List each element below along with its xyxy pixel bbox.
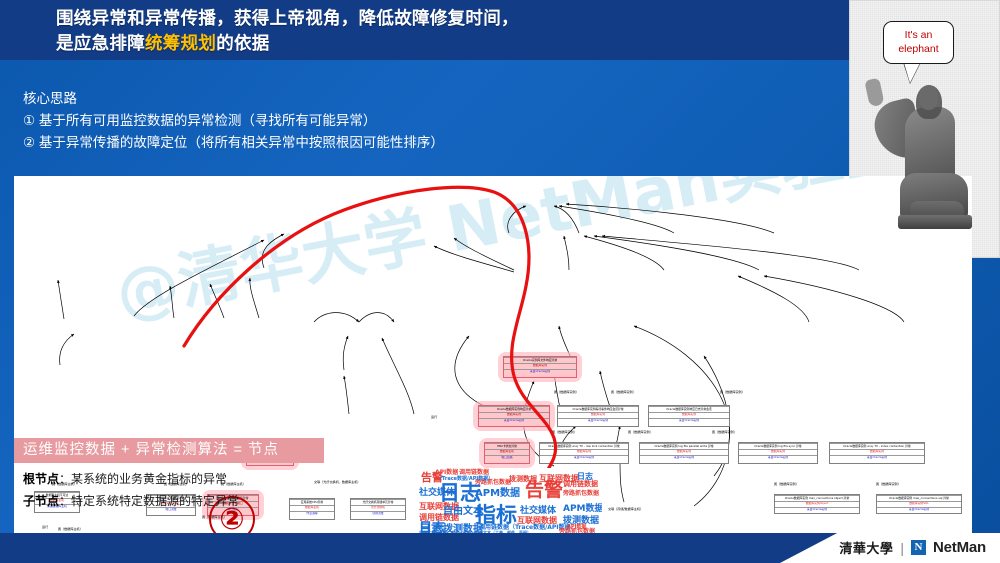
word-cloud-term: APM数据 — [475, 488, 520, 499]
core-idea-heading: 核心思路 — [23, 88, 663, 110]
node-row-2: 来自Oracle实例 — [649, 418, 729, 424]
diagram-node[interactable]: Oracle数据库实例 log file sync 异常数据库实例来自Oracl… — [738, 442, 818, 464]
edge-label: 属（数据库实例） — [712, 429, 737, 434]
diagram-node[interactable]: Oracle数据库实例 enq: TX - row lock contentio… — [539, 442, 629, 464]
node-row-0: Oracle数据库实例 enq: TX - index contention 异… — [830, 443, 924, 449]
word-cloud-term: 告警 — [525, 480, 563, 500]
speech-line-2: elephant — [884, 42, 953, 56]
anomaly-propagation-diagram: @清华大学 NetMan实验室 — [14, 176, 972, 533]
legend-body: 根节点：某系统的业务黄金指标的异常 子节点：特定系统特定数据源的特定异常 — [23, 468, 323, 512]
page-title: 围绕异常和异常传播，获得上帝视角，降低故障修复时间， 是应急排障统筹规划的依据 — [56, 6, 756, 56]
title-line-2-prefix: 是应急排障 — [56, 33, 145, 53]
statue-head-shape — [919, 85, 938, 110]
legend-title-bar: 运维监控数据 + 异常检测算法 = 节点 — [14, 438, 324, 463]
edge-label: 属（数据库实例） — [554, 389, 579, 394]
edge-label: 属（数据库实例） — [628, 429, 653, 434]
speech-bubble: It's an elephant — [883, 21, 954, 64]
node-row-0: Oracle数据库实例 enq: TX - row lock contentio… — [540, 443, 628, 449]
legend-child-text: ：特定系统特定数据源的特定异常 — [59, 494, 239, 508]
edge-label: 属（数据库实例） — [774, 481, 799, 486]
edge-label: 属（数据库实例） — [876, 481, 901, 486]
tsinghua-logo: 清華大學 — [839, 538, 893, 557]
diagram-node[interactable]: 光纤交换机存储单元异常光纤交换机切换流量 — [350, 498, 406, 520]
node-row-2: 来自Oracle实例 — [830, 455, 924, 461]
node-row-2: 来自Oracle实例 — [775, 507, 859, 513]
title-highlight: 统筹规划 — [145, 33, 216, 53]
edge-label: 属（数据库实例） — [552, 429, 577, 434]
word-cloud-term: 社交媒体 — [520, 506, 556, 516]
word-cloud-term: 日志 — [577, 472, 593, 481]
edge-label: 交联（存储/数据库主机） — [608, 506, 643, 511]
title-line-1: 围绕异常和异常传播，获得上帝视角，降低故障修复时间， — [56, 8, 519, 28]
legend-child-label: 子节点 — [23, 494, 59, 508]
edge-label: 属（数据库实例） — [611, 389, 636, 394]
word-cloud-term: （Trace数据/API数据） — [437, 476, 493, 482]
title-line-2-suffix: 的依据 — [216, 33, 269, 53]
legend-child-row: 子节点：特定系统特定数据源的特定异常 — [23, 490, 323, 512]
node-row-0: Oracle数据库实例 max_connections object 异常 — [775, 495, 859, 501]
speech-bubble-tail — [904, 63, 920, 83]
edge-label: 运行 — [42, 524, 48, 529]
word-cloud-term: APM数据 — [563, 504, 602, 514]
word-cloud-term: API数据 — [435, 469, 458, 476]
node-row-2: 来自Oracle实例 — [877, 507, 961, 513]
legend-root-text: ：某系统的业务黄金指标的异常 — [59, 472, 227, 486]
legend-title-text: 运维监控数据 + 异常检测算法 = 节点 — [23, 442, 279, 458]
node-row-2: 来自Oracle实例 — [739, 455, 817, 461]
word-cloud-term: 调用链数据 — [459, 469, 489, 476]
edge-label: 运行 — [431, 414, 437, 419]
word-cloud-term: 拨测数据 — [509, 475, 537, 483]
node-row-2: 来自Oracle实例 — [540, 455, 628, 461]
speech-line-1: It's an — [884, 28, 953, 42]
diagram-node[interactable]: Oracle数据库实例等待事件响应会话异常数据库实例来自Oracle实例 — [557, 405, 639, 427]
diagram-node[interactable]: Oracle数据库实例响应日志异常会话数据库实例来自Oracle实例 — [648, 405, 730, 427]
diagram-node[interactable]: Oracle数据库实例响应异常数据库实例来自Oracle实例 — [478, 405, 550, 427]
word-cloud-term: 自由文本 — [443, 506, 483, 517]
edge-label: 属（数据库主机） — [58, 526, 83, 531]
node-row-2: 切换流量 — [351, 511, 405, 517]
netman-logo-icon: N — [911, 540, 926, 555]
core-idea-item-1: ① 基于所有可用监控数据的异常检测（寻找所有可能异常） — [23, 110, 663, 132]
diagram-node[interactable]: HBA卡状态异常数据库主机端口链路 — [484, 442, 530, 464]
node-row-2: 来自Oracle实例 — [640, 455, 728, 461]
node-row-2: 来自Oracle实例 — [479, 418, 549, 424]
statue-base-shape — [898, 215, 972, 229]
slide-root: 围绕异常和异常传播，获得上帝视角，降低故障修复时间， 是应急排障统筹规划的依据 … — [0, 0, 1000, 563]
diagram-node[interactable]: Oracle数据库实例 max_connections sql 异常数据库实例S… — [876, 494, 962, 514]
word-cloud-term: 旁路抓包数据 — [563, 490, 599, 497]
node-row-2: 来自Oracle实例 — [558, 418, 638, 424]
node-row-2: 来自Oracle实例 — [504, 369, 576, 375]
logo-separator: | — [900, 540, 904, 556]
core-idea-block: 核心思路 ① 基于所有可用监控数据的异常检测（寻找所有可能异常） ② 基于异常传… — [23, 88, 663, 154]
diagram-node[interactable]: Oracle实例库文件响应异常数据库实例来自Oracle实例 — [503, 356, 577, 378]
word-cloud-term: 社交媒体 — [419, 488, 455, 498]
data-source-word-cloud: 日志指标告警告警社交媒体互联网数据调用链数据日志自由文本APM数据旁路抓包数据社… — [417, 468, 602, 533]
node-row-0: Oracle数据库实例 max_connections sql 异常 — [877, 495, 961, 501]
diagram-node[interactable]: Oracle数据库实例 log file parallel write 异常数据… — [639, 442, 729, 464]
word-cloud-term: 互联网数据 — [539, 474, 579, 483]
core-idea-item-2: ② 基于异常传播的故障定位（将所有相关异常中按照根因可能性排序） — [23, 132, 663, 154]
node-row-2: 端口链路 — [485, 455, 529, 461]
edge-label: 属（数据库实例） — [720, 389, 745, 394]
netman-logo-text: NetMan — [933, 539, 986, 556]
diagram-node[interactable]: Oracle数据库实例 max_connections object 异常数据库… — [774, 494, 860, 514]
legend-root-row: 根节点：某系统的业务黄金指标的异常 — [23, 468, 323, 490]
diagram-node[interactable]: Oracle数据库实例 enq: TX - index contention 异… — [829, 442, 925, 464]
footer-logos: 清華大學 | N NetMan — [839, 538, 986, 557]
legend-root-label: 根节点 — [23, 472, 59, 486]
